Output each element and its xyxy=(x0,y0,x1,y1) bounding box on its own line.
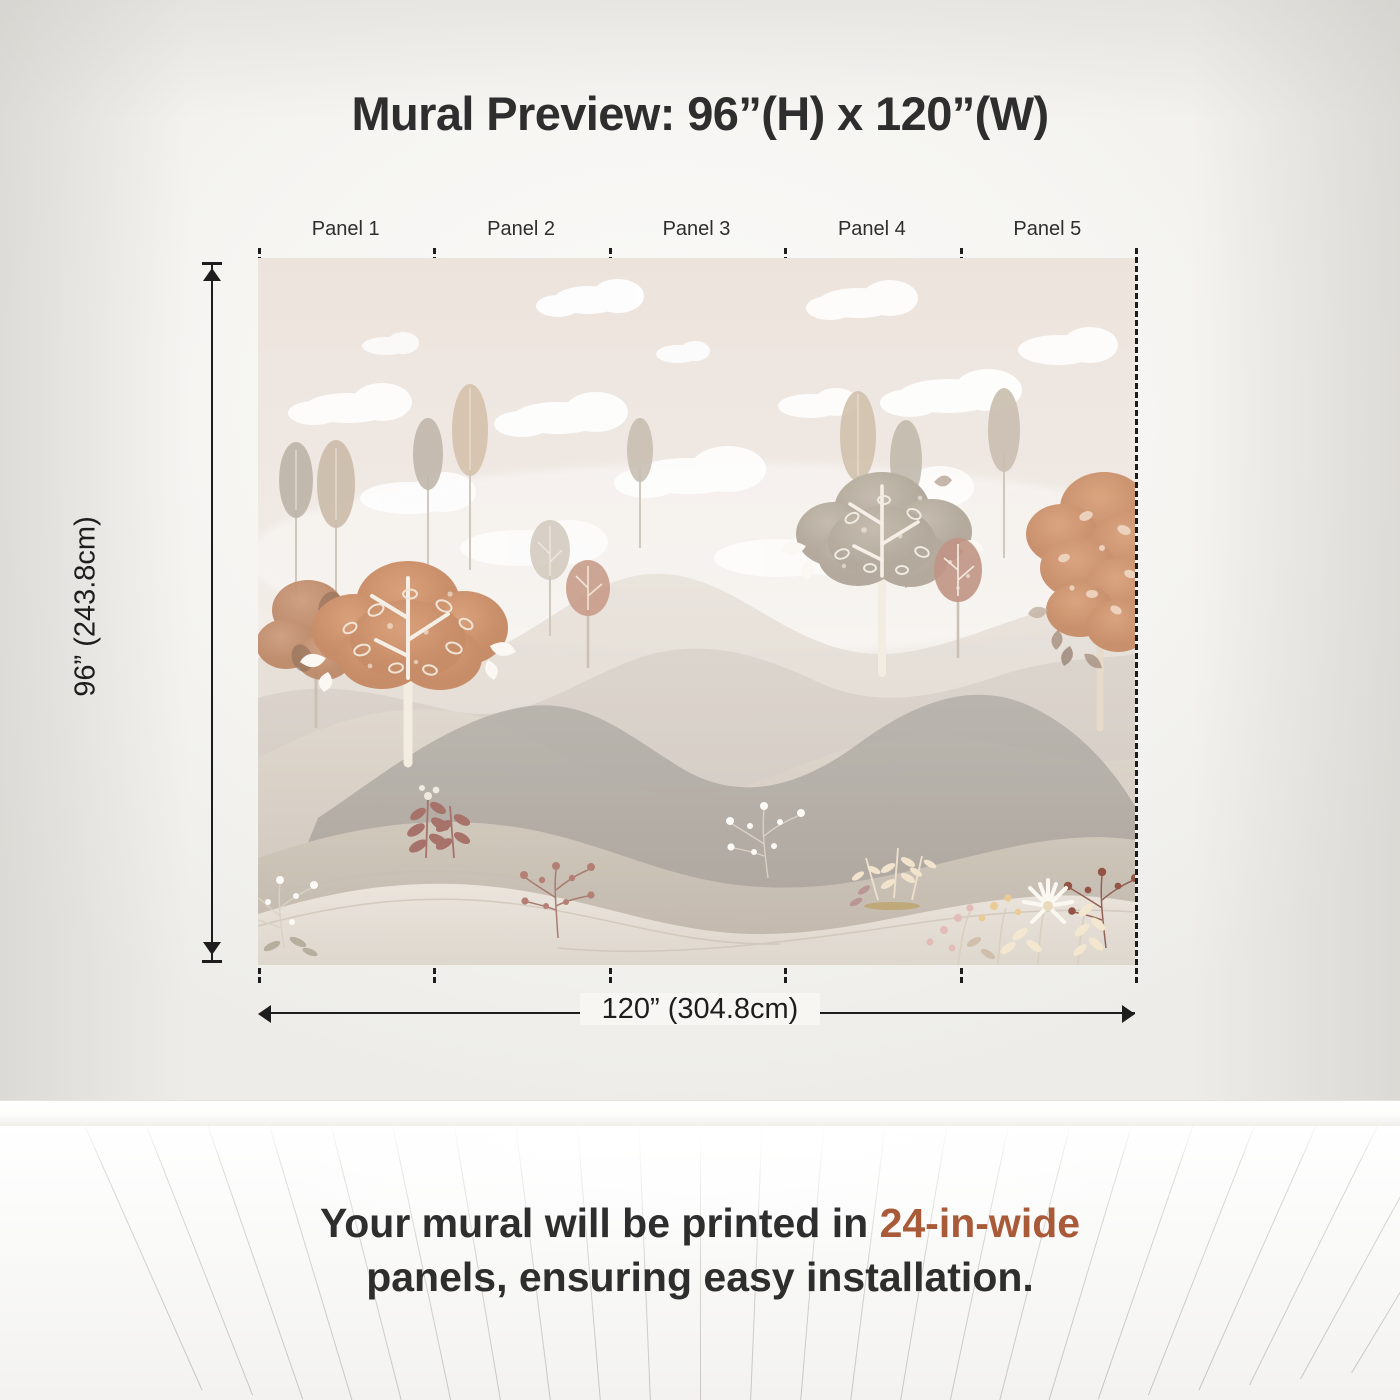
height-arrow-down xyxy=(203,942,221,955)
wall-right-shadow xyxy=(1190,0,1400,1100)
height-cap-bottom xyxy=(202,960,222,963)
panel-divider-5 xyxy=(1135,248,1138,983)
height-label: 96” (243.8cm) xyxy=(70,457,103,757)
mural-preview[interactable] xyxy=(258,258,1135,965)
panel-label-1: Panel 1 xyxy=(258,218,433,241)
panel-label-5: Panel 5 xyxy=(960,218,1135,241)
mural-artwork xyxy=(258,258,1135,965)
caption-line2: panels, ensuring easy installation. xyxy=(366,1254,1034,1300)
height-line xyxy=(211,262,213,962)
panel-label-2: Panel 2 xyxy=(433,218,608,241)
caption-line1-before: Your mural will be printed in xyxy=(320,1200,880,1246)
panel-label-4: Panel 4 xyxy=(784,218,959,241)
mural-illustration xyxy=(258,258,1135,965)
baseboard xyxy=(0,1100,1400,1126)
width-label: 120” (304.8cm) xyxy=(0,993,1400,1026)
panel-label-3: Panel 3 xyxy=(609,218,784,241)
caption: Your mural will be printed in 24-in-wide… xyxy=(90,1196,1310,1304)
caption-accent: 24-in-wide xyxy=(880,1200,1080,1246)
page-title: Mural Preview: 96”(H) x 120”(W) xyxy=(0,86,1400,141)
